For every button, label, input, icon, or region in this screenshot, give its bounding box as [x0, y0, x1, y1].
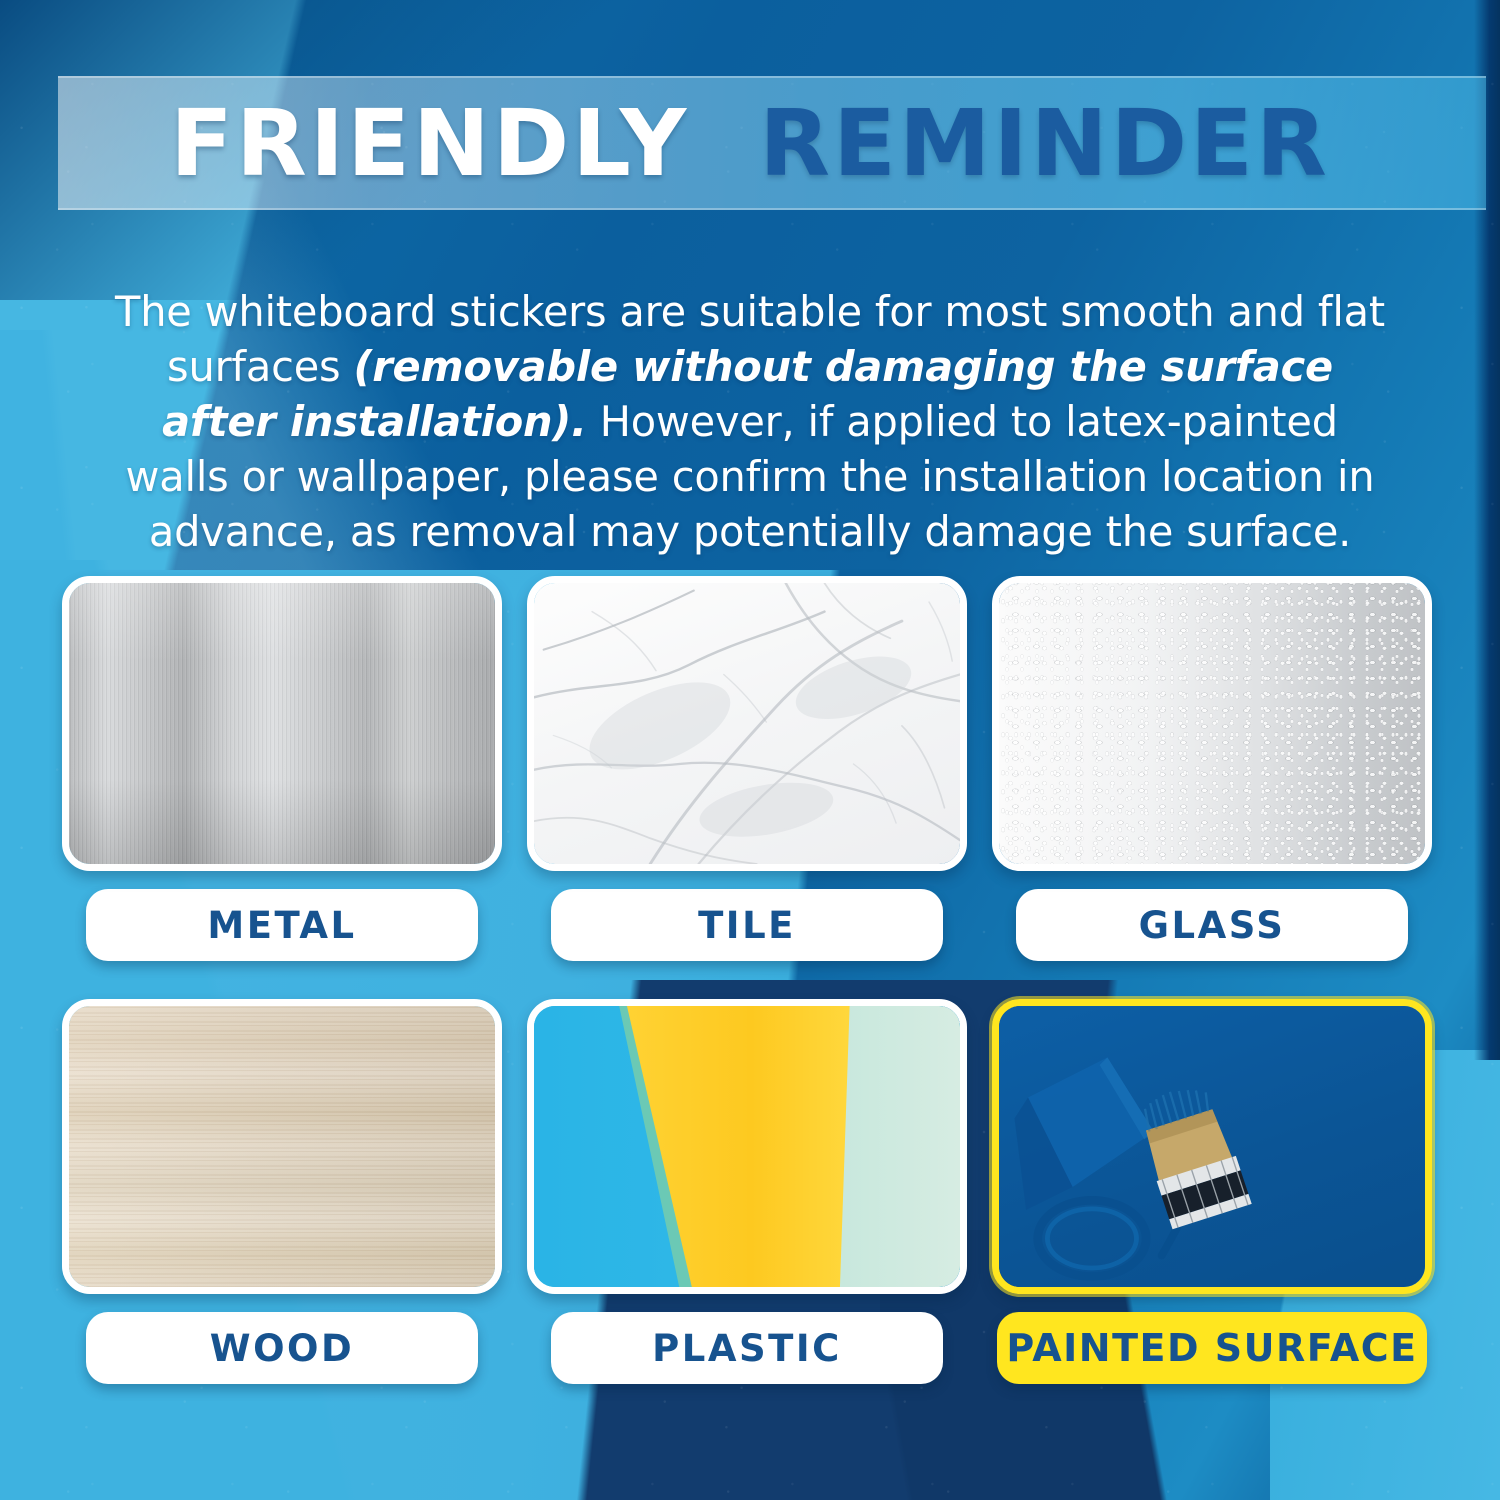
- label-text-metal: METAL: [207, 904, 356, 947]
- swatch-painted-surface[interactable]: [992, 999, 1432, 1294]
- label-pill-tile[interactable]: TILE: [551, 889, 943, 961]
- swatch-plastic[interactable]: [527, 999, 967, 1294]
- body-paragraph: The whiteboard stickers are suitable for…: [110, 284, 1390, 559]
- page-title: FRIENDLY REMINDER: [0, 78, 1500, 210]
- label-pill-painted-surface[interactable]: PAINTED SURFACE: [997, 1312, 1427, 1384]
- label-text-painted-surface: PAINTED SURFACE: [1006, 1326, 1417, 1370]
- material-cell-glass: GLASS: [992, 576, 1432, 961]
- paint-can-and-brush: [999, 1006, 1425, 1287]
- paint-can-and-brush-icon: [999, 1006, 1425, 1287]
- title-word-friendly: FRIENDLY: [170, 90, 689, 197]
- swatch-metal[interactable]: [62, 576, 502, 871]
- material-grid: METAL: [62, 576, 1442, 1384]
- swatch-wood[interactable]: [62, 999, 502, 1294]
- label-pill-plastic[interactable]: PLASTIC: [551, 1312, 943, 1384]
- swatch-glass[interactable]: [992, 576, 1432, 871]
- brushed-metal-texture: [69, 583, 495, 864]
- material-cell-wood: WOOD: [62, 999, 502, 1384]
- frosted-glass-texture: [999, 583, 1425, 864]
- material-cell-plastic: PLASTIC: [527, 999, 967, 1384]
- material-cell-metal: METAL: [62, 576, 502, 961]
- swatch-tile[interactable]: [527, 576, 967, 871]
- marble-veins-icon: [534, 583, 960, 864]
- label-text-tile: TILE: [698, 904, 796, 947]
- light-wood-grain-texture: [69, 1006, 495, 1287]
- label-pill-glass[interactable]: GLASS: [1016, 889, 1408, 961]
- material-cell-painted-surface: PAINTED SURFACE: [992, 999, 1432, 1384]
- colored-plastic-texture: [534, 1006, 960, 1287]
- label-text-glass: GLASS: [1139, 904, 1286, 947]
- plastic-color-bands-icon: [534, 1006, 960, 1287]
- infographic-page: FRIENDLY REMINDER The whiteboard sticker…: [0, 0, 1500, 1500]
- white-marble-texture: [534, 583, 960, 864]
- label-pill-wood[interactable]: WOOD: [86, 1312, 478, 1384]
- label-pill-metal[interactable]: METAL: [86, 889, 478, 961]
- material-cell-tile: TILE: [527, 576, 967, 961]
- title-word-reminder: REMINDER: [759, 90, 1330, 197]
- label-text-wood: WOOD: [210, 1327, 354, 1370]
- label-text-plastic: PLASTIC: [652, 1327, 842, 1370]
